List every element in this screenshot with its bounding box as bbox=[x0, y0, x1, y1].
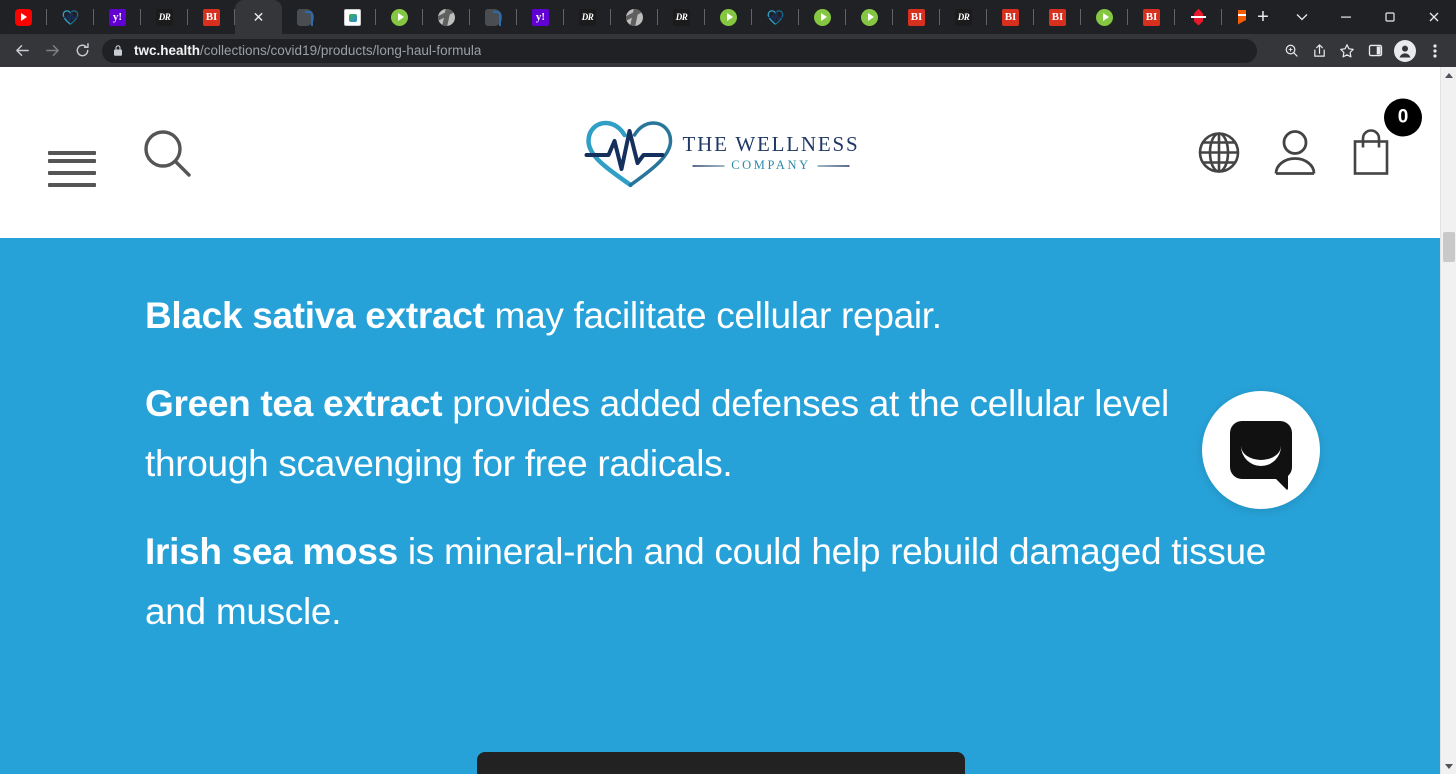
yahoo-icon: y! bbox=[532, 9, 549, 26]
grey-globe-icon bbox=[438, 9, 455, 26]
molecule-icon bbox=[344, 9, 361, 26]
tab-strip: y!DRBI✕y!DRDRBIDRBIBIBIgy! + bbox=[0, 0, 1456, 34]
scroll-down-arrow[interactable] bbox=[1441, 758, 1456, 774]
site-header: THE WELLNESS COMPANY bbox=[0, 67, 1440, 238]
hero-paragraph-2: Green tea extract provides added defense… bbox=[145, 374, 1295, 494]
logo-dash-right bbox=[818, 165, 850, 167]
logo-line-1: THE WELLNESS bbox=[683, 132, 860, 157]
page-scrollbar[interactable] bbox=[1440, 67, 1456, 774]
search-icon[interactable] bbox=[140, 126, 194, 180]
bi-icon: BI bbox=[1049, 9, 1066, 26]
hero-paragraph-lead-2: Green tea extract bbox=[145, 383, 442, 424]
header-left-actions bbox=[48, 126, 194, 180]
star-icon[interactable] bbox=[1334, 38, 1360, 64]
active-tab[interactable]: ✕ bbox=[235, 0, 282, 34]
grey-globe-tab-1[interactable] bbox=[423, 0, 470, 34]
yahoo-icon: y! bbox=[109, 9, 126, 26]
logo-line-2-row: COMPANY bbox=[692, 158, 850, 173]
url-path: /collections/covid19/products/long-haul-… bbox=[200, 43, 481, 58]
cart-button[interactable]: 0 bbox=[1348, 125, 1394, 180]
chat-bubble-icon bbox=[1230, 421, 1292, 479]
dr-icon: DR bbox=[955, 9, 972, 26]
bookmark-tab-1[interactable] bbox=[1222, 0, 1246, 34]
rumble-icon bbox=[814, 9, 831, 26]
logo-dash-left bbox=[692, 165, 724, 167]
zoom-magnifier-icon[interactable] bbox=[1278, 38, 1304, 64]
side-panel-icon[interactable] bbox=[1362, 38, 1388, 64]
site-logo[interactable]: THE WELLNESS COMPANY bbox=[581, 117, 860, 189]
yahoo-tab[interactable]: y! bbox=[94, 0, 141, 34]
rumble-tab-1[interactable] bbox=[376, 0, 423, 34]
dr-tab[interactable]: DR bbox=[141, 0, 188, 34]
browser-toolbar: twc.health/collections/covid19/products/… bbox=[0, 34, 1456, 67]
rumble-tab-4[interactable] bbox=[846, 0, 893, 34]
bi-icon: BI bbox=[203, 9, 220, 26]
reload-button[interactable] bbox=[68, 37, 96, 65]
rumble-icon bbox=[861, 9, 878, 26]
rumble-tab-2[interactable] bbox=[705, 0, 752, 34]
dr-icon: DR bbox=[156, 9, 173, 26]
bi-icon: BI bbox=[1002, 9, 1019, 26]
molecule-tab[interactable] bbox=[329, 0, 376, 34]
close-window-button[interactable] bbox=[1412, 1, 1456, 33]
businessinsider-tab-4[interactable]: BI bbox=[1034, 0, 1081, 34]
shopping-bag-icon bbox=[1348, 125, 1394, 175]
three-dot-menu-icon[interactable] bbox=[1422, 38, 1448, 64]
scrollbar-thumb[interactable] bbox=[1443, 232, 1455, 262]
chat-launcher-button[interactable] bbox=[1202, 391, 1320, 509]
web-page: THE WELLNESS COMPANY bbox=[0, 67, 1440, 774]
account-person-icon[interactable] bbox=[1272, 129, 1318, 177]
bi-icon: BI bbox=[1143, 9, 1160, 26]
wellness-tab[interactable] bbox=[47, 0, 94, 34]
red-pill-icon bbox=[1190, 9, 1207, 26]
bottom-sticky-bar[interactable] bbox=[477, 752, 965, 774]
hamburger-menu-icon[interactable] bbox=[48, 143, 96, 163]
profile-avatar-icon[interactable] bbox=[1394, 40, 1416, 62]
page-viewport: THE WELLNESS COMPANY bbox=[0, 67, 1456, 774]
rumble-icon bbox=[1096, 9, 1113, 26]
hero-paragraph-3: Irish sea moss is mineral-rich and could… bbox=[145, 522, 1295, 642]
rumble-icon bbox=[391, 9, 408, 26]
hero-paragraph-rest-1: may facilitate cellular repair. bbox=[485, 295, 942, 336]
wellness-tab-2[interactable] bbox=[752, 0, 799, 34]
dark-chevron-icon bbox=[297, 9, 314, 26]
yahoo-tab-2[interactable]: y! bbox=[517, 0, 564, 34]
hero-section: Black sativa extract may facilitate cell… bbox=[0, 238, 1440, 774]
grey-globe-tab-2[interactable] bbox=[611, 0, 658, 34]
chevron-tab-1[interactable] bbox=[282, 0, 329, 34]
logo-wordmark: THE WELLNESS COMPANY bbox=[683, 132, 860, 173]
logo-line-2: COMPANY bbox=[731, 158, 811, 173]
scroll-up-arrow[interactable] bbox=[1441, 67, 1456, 83]
chevron-tab-2[interactable] bbox=[470, 0, 517, 34]
browser-window: y!DRBI✕y!DRDRBIDRBIBIBIgy! + bbox=[0, 0, 1456, 774]
globe-icon[interactable] bbox=[1196, 130, 1242, 176]
businessinsider-tab-2[interactable]: BI bbox=[893, 0, 940, 34]
hero-paragraph-lead-3: Irish sea moss bbox=[145, 531, 398, 572]
minimize-button[interactable] bbox=[1324, 1, 1368, 33]
tab-list: y!DRBI✕y!DRDRBIDRBIBIBIgy! bbox=[0, 0, 1246, 34]
youtube-icon bbox=[15, 9, 32, 26]
heart-pulse-icon bbox=[767, 9, 784, 26]
header-right-actions: 0 bbox=[1196, 125, 1394, 180]
new-tab-button[interactable]: + bbox=[1246, 0, 1280, 34]
youtube-tab[interactable] bbox=[0, 0, 47, 34]
cart-count-badge: 0 bbox=[1384, 98, 1422, 136]
toolbar-right-actions bbox=[1278, 38, 1448, 64]
businessinsider-tab-3[interactable]: BI bbox=[987, 0, 1034, 34]
orange-banner-icon bbox=[1237, 9, 1246, 26]
dr-icon: DR bbox=[579, 9, 596, 26]
url-domain: twc.health bbox=[134, 43, 200, 58]
dr-tab-2[interactable]: DR bbox=[564, 0, 611, 34]
hero-paragraph-1: Black sativa extract may facilitate cell… bbox=[145, 286, 1295, 346]
forward-button[interactable] bbox=[38, 37, 66, 65]
heart-pulse-icon bbox=[62, 9, 79, 26]
window-controls bbox=[1280, 0, 1456, 34]
heart-pulse-logo-icon bbox=[581, 117, 681, 189]
maximize-button[interactable] bbox=[1368, 1, 1412, 33]
tab-search-button[interactable] bbox=[1280, 1, 1324, 33]
dr-icon: DR bbox=[673, 9, 690, 26]
rumble-icon bbox=[720, 9, 737, 26]
redpill-tab[interactable] bbox=[1175, 0, 1222, 34]
businessinsider-tab[interactable]: BI bbox=[188, 0, 235, 34]
dark-chevron-icon bbox=[485, 9, 502, 26]
hero-paragraph-lead-1: Black sativa extract bbox=[145, 295, 485, 336]
share-icon[interactable] bbox=[1306, 38, 1332, 64]
dr-tab-4[interactable]: DR bbox=[940, 0, 987, 34]
dr-tab-3[interactable]: DR bbox=[658, 0, 705, 34]
grey-globe-icon bbox=[626, 9, 643, 26]
bi-icon: BI bbox=[908, 9, 925, 26]
tab-close-icon[interactable]: ✕ bbox=[253, 10, 265, 24]
address-bar[interactable]: twc.health/collections/covid19/products/… bbox=[102, 39, 1257, 63]
rumble-tab-3[interactable] bbox=[799, 0, 846, 34]
address-bar-url: twc.health/collections/covid19/products/… bbox=[134, 43, 481, 58]
lock-icon bbox=[112, 44, 125, 57]
back-button[interactable] bbox=[8, 37, 36, 65]
businessinsider-tab-5[interactable]: BI bbox=[1128, 0, 1175, 34]
rumble-tab-5[interactable] bbox=[1081, 0, 1128, 34]
